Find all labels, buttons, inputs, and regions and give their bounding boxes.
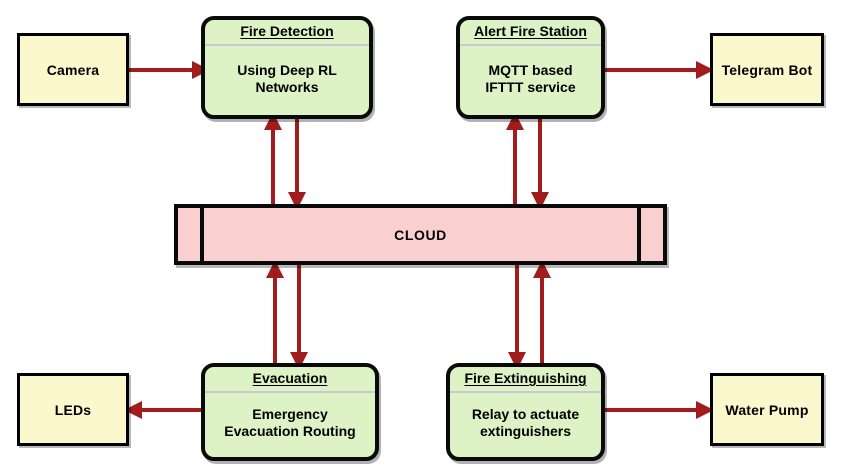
connector-alert-to-telegram-bot <box>600 58 714 82</box>
connector-camera-to-fire-detection <box>126 58 210 82</box>
connector-cloud-to-alert-up <box>504 112 526 210</box>
module-fire-extinguishing-body: Relay to actuate extinguishers <box>450 393 601 457</box>
device-water-pump[interactable]: Water Pump <box>710 373 824 446</box>
module-evacuation-title: Evacuation <box>205 367 375 393</box>
cloud-layer[interactable]: CLOUD <box>174 204 667 265</box>
cloud-left-gutter <box>178 208 204 261</box>
module-fire-detection[interactable]: Fire Detection Using Deep RL Networks <box>201 16 373 119</box>
module-evacuation[interactable]: Evacuation Emergency Evacuation Routing <box>201 363 379 461</box>
device-leds[interactable]: LEDs <box>17 373 129 446</box>
connector-evacuation-to-cloud-up <box>264 260 286 370</box>
connector-fire-detection-to-cloud-down <box>286 112 308 210</box>
connector-alert-to-cloud-down <box>529 112 551 210</box>
module-evacuation-body: Emergency Evacuation Routing <box>205 393 375 457</box>
connector-extinguishing-to-cloud-up <box>531 260 553 370</box>
device-telegram-bot-label: Telegram Bot <box>722 62 813 78</box>
module-alert-fire-station[interactable]: Alert Fire Station MQTT based IFTTT serv… <box>456 16 605 119</box>
connector-cloud-to-fire-detection-up <box>262 112 284 210</box>
connector-evacuation-to-leds <box>124 398 206 422</box>
cloud-right-gutter <box>637 208 663 261</box>
module-fire-extinguishing-title: Fire Extinguishing <box>450 367 601 393</box>
cloud-label: CLOUD <box>204 208 637 261</box>
device-leds-label: LEDs <box>55 402 92 418</box>
device-telegram-bot[interactable]: Telegram Bot <box>710 33 824 106</box>
module-alert-fire-station-title: Alert Fire Station <box>460 20 601 46</box>
connector-cloud-to-evacuation-down <box>288 260 310 370</box>
connector-extinguishing-to-water-pump <box>600 398 714 422</box>
module-fire-detection-body: Using Deep RL Networks <box>205 46 369 115</box>
device-camera-label: Camera <box>47 62 100 78</box>
architecture-diagram-canvas: Camera Fire Detection Using Deep RL Netw… <box>0 0 841 470</box>
module-fire-extinguishing[interactable]: Fire Extinguishing Relay to actuate exti… <box>446 363 605 461</box>
connector-cloud-to-extinguishing-down <box>506 260 528 370</box>
module-alert-fire-station-body: MQTT based IFTTT service <box>460 46 601 115</box>
device-camera[interactable]: Camera <box>17 33 129 106</box>
module-fire-detection-title: Fire Detection <box>205 20 369 46</box>
device-water-pump-label: Water Pump <box>725 402 808 418</box>
